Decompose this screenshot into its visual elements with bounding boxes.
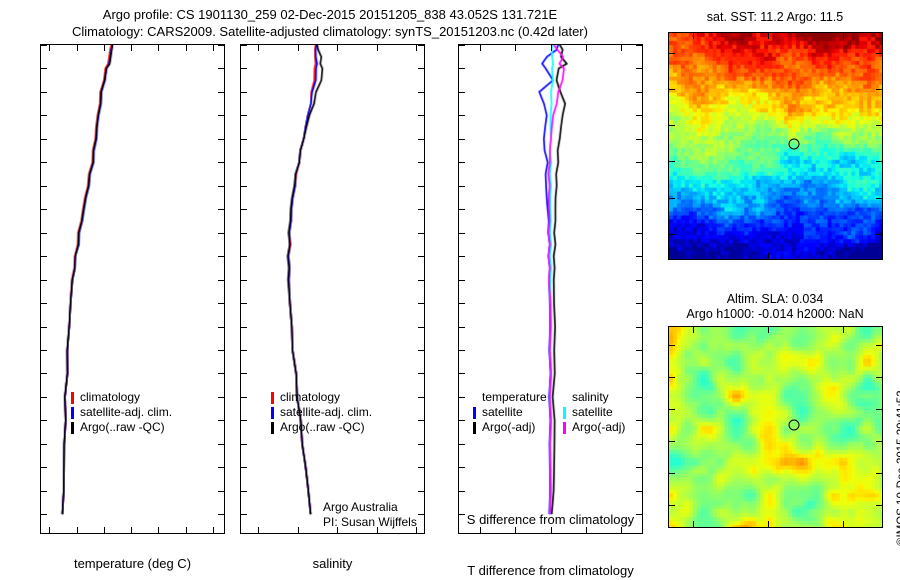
axis-tick [41, 233, 47, 234]
legend-label: satellite-adj. clim. [280, 405, 372, 420]
axis-tick [459, 303, 465, 304]
axis-tick [636, 115, 642, 116]
axis-tick [636, 162, 642, 163]
temperature-legend: climatologysatellite-adj. clim.Argo(..ra… [71, 390, 172, 435]
axis-tick [551, 45, 552, 51]
axis-tick [636, 139, 642, 140]
axis-tick [418, 186, 424, 187]
temperature-axis-label: temperature (deg C) [40, 556, 225, 571]
axis-tick [41, 350, 47, 351]
sla-map-title-line1: Altim. SLA: 0.034 [660, 292, 890, 307]
axis-tick [669, 53, 675, 54]
axis-tick [636, 327, 642, 328]
axis-tick [41, 92, 47, 93]
axis-tick [41, 514, 47, 515]
axis-tick [131, 45, 132, 51]
difference-bottom-axis-label: T difference from climatology [458, 563, 643, 578]
axis-tick [218, 397, 224, 398]
axis-tick [693, 253, 694, 259]
axis-tick [49, 527, 50, 533]
axis-tick [186, 527, 187, 533]
axis-tick [551, 527, 552, 533]
axis-tick [515, 527, 516, 533]
axis-tick [218, 327, 224, 328]
salinity-axis-label: salinity [240, 556, 425, 571]
axis-tick [459, 397, 465, 398]
axis-tick [41, 45, 47, 46]
axis-tick [876, 377, 882, 378]
axis-tick [693, 33, 694, 39]
legend-item: satellite-adj. clim. [271, 405, 372, 420]
axis-tick [241, 45, 247, 46]
axis-tick [218, 209, 224, 210]
axis-tick [241, 233, 247, 234]
axis-tick [843, 327, 844, 333]
axis-tick [459, 68, 465, 69]
axis-tick [218, 92, 224, 93]
axis-tick [241, 280, 247, 281]
axis-tick [41, 397, 47, 398]
axis-tick [876, 53, 882, 54]
axis-tick [459, 45, 465, 46]
axis-tick [416, 45, 417, 51]
axis-tick [418, 420, 424, 421]
axis-tick [158, 527, 159, 533]
axis-tick [459, 162, 465, 163]
axis-tick [418, 68, 424, 69]
axis-tick [876, 198, 882, 199]
axis-tick [459, 327, 465, 328]
axis-tick [669, 441, 675, 442]
axis-tick [459, 209, 465, 210]
axis-tick [669, 377, 675, 378]
axis-tick [418, 139, 424, 140]
legend-color-swatch [71, 407, 74, 419]
axis-tick [418, 303, 424, 304]
legend-title: salinity [563, 390, 625, 405]
axis-tick [636, 209, 642, 210]
axis-tick [636, 303, 642, 304]
axis-tick [418, 45, 424, 46]
axis-tick [418, 397, 424, 398]
legend-color-swatch [473, 422, 476, 434]
page-title: Argo profile: CS 1901130_259 02-Dec-2015… [0, 6, 660, 40]
axis-tick [41, 491, 47, 492]
axis-tick [459, 420, 465, 421]
axis-tick [768, 521, 769, 527]
legend-item: Argo(-adj) [563, 420, 625, 435]
sla-map-axes: -38-40-42-44-46-48125130135 [669, 327, 882, 527]
axis-tick [337, 45, 338, 51]
legend-item: satellite [563, 405, 625, 420]
axis-tick [459, 115, 465, 116]
legend-item: satellite [473, 405, 547, 420]
axis-tick [669, 345, 675, 346]
axis-tick [621, 45, 622, 51]
axis-tick [636, 68, 642, 69]
axis-tick [418, 162, 424, 163]
axis-tick [418, 467, 424, 468]
axis-tick [41, 139, 47, 140]
axis-tick [843, 33, 844, 39]
axis-tick [876, 505, 882, 506]
axis-tick [218, 186, 224, 187]
legend-item: Argo(..raw -QC) [71, 420, 172, 435]
axis-tick [41, 280, 47, 281]
axis-tick [41, 68, 47, 69]
axis-tick [669, 234, 675, 235]
axis-tick [241, 350, 247, 351]
sst-map[interactable]: -38-40-42-44-46-48125130135 [668, 32, 883, 260]
legend-item: Argo(..raw -QC) [271, 420, 372, 435]
axis-tick [636, 45, 642, 46]
legend-label: satellite [572, 405, 613, 420]
axis-tick [459, 280, 465, 281]
axis-tick [586, 45, 587, 51]
sla-map-title-line2: Argo h1000: -0.014 h2000: NaN [650, 307, 900, 322]
axis-tick [218, 467, 224, 468]
axis-tick [669, 409, 675, 410]
legend-item: Argo(-adj) [473, 420, 547, 435]
legend-label: satellite [482, 405, 523, 420]
title-line-1: Argo profile: CS 1901130_259 02-Dec-2015… [0, 6, 660, 23]
axis-tick [241, 467, 247, 468]
axis-tick [41, 467, 47, 468]
axis-tick [258, 527, 259, 533]
legend-color-swatch [563, 422, 566, 434]
axis-tick [768, 327, 769, 333]
axis-tick [218, 68, 224, 69]
axis-tick [693, 521, 694, 527]
axis-tick [241, 92, 247, 93]
axis-tick [218, 162, 224, 163]
axis-tick [459, 444, 465, 445]
axis-tick [669, 125, 675, 126]
axis-tick [241, 373, 247, 374]
temperature-profile-panel[interactable]: 0100200300400500600700800900100011001200… [40, 44, 225, 534]
axis-tick [693, 327, 694, 333]
axis-tick [218, 139, 224, 140]
axis-tick [41, 162, 47, 163]
axis-tick [418, 444, 424, 445]
axis-tick [418, 327, 424, 328]
axis-tick [418, 256, 424, 257]
salinity-legend: climatologysatellite-adj. clim.Argo(..ra… [271, 390, 372, 435]
axis-tick [876, 409, 882, 410]
axis-tick [669, 505, 675, 506]
axis-tick [241, 209, 247, 210]
axis-tick [41, 373, 47, 374]
axis-tick [636, 256, 642, 257]
axis-tick [218, 350, 224, 351]
axis-tick [636, 233, 642, 234]
difference-legend-salinity: salinitysatelliteArgo(-adj) [563, 390, 625, 435]
axis-tick [636, 491, 642, 492]
legend-item: satellite-adj. clim. [71, 405, 172, 420]
axis-tick [241, 491, 247, 492]
axis-tick [241, 514, 247, 515]
axis-tick [876, 89, 882, 90]
legend-color-swatch [71, 422, 74, 434]
axis-tick [41, 444, 47, 445]
axis-tick [218, 373, 224, 374]
axis-tick [636, 444, 642, 445]
axis-tick [459, 350, 465, 351]
axis-tick [515, 45, 516, 51]
axis-tick [459, 139, 465, 140]
axis-tick [768, 253, 769, 259]
axis-tick [218, 256, 224, 257]
axis-tick [669, 89, 675, 90]
axis-tick [241, 68, 247, 69]
sla-map[interactable]: -38-40-42-44-46-48125130135 [668, 326, 883, 528]
axis-tick [636, 467, 642, 468]
attribution-line-1: Argo Australia [323, 500, 417, 515]
axis-tick [418, 115, 424, 116]
axis-tick [636, 397, 642, 398]
axis-tick [418, 373, 424, 374]
axis-tick [241, 420, 247, 421]
axis-tick [621, 527, 622, 533]
legend-label: climatology [80, 390, 140, 405]
difference-legend-temperature: temperaturesatelliteArgo(-adj) [473, 390, 547, 435]
axis-tick [459, 373, 465, 374]
legend-label: climatology [280, 390, 340, 405]
axis-tick [418, 209, 424, 210]
axis-tick [418, 92, 424, 93]
axis-tick [104, 45, 105, 51]
axis-tick [418, 491, 424, 492]
axis-tick [158, 45, 159, 51]
legend-label: Argo(..raw -QC) [80, 420, 165, 435]
axis-tick [459, 92, 465, 93]
difference-axes: -2-1012-0.5-0.2500.250.5 [459, 45, 642, 533]
axis-tick [459, 186, 465, 187]
axis-tick [41, 256, 47, 257]
axis-tick [636, 350, 642, 351]
axis-tick [241, 327, 247, 328]
axis-tick [41, 420, 47, 421]
axis-tick [636, 186, 642, 187]
axis-tick [186, 45, 187, 51]
legend-label: Argo(-adj) [572, 420, 625, 435]
legend-color-swatch [271, 422, 274, 434]
axis-tick [377, 45, 378, 51]
axis-tick [636, 373, 642, 374]
sst-map-title: sat. SST: 11.2 Argo: 11.5 [660, 10, 890, 25]
axis-tick [636, 280, 642, 281]
axis-tick [298, 527, 299, 533]
axis-tick [131, 527, 132, 533]
axis-tick [41, 209, 47, 210]
legend-label: Argo(-adj) [482, 420, 535, 435]
axis-tick [480, 45, 481, 51]
axis-tick [41, 303, 47, 304]
axis-tick [876, 441, 882, 442]
imos-credit: ©IMOS 10-Dec-2015 20:41:52 [896, 390, 900, 546]
legend-color-swatch [271, 407, 274, 419]
salinity-profile-panel[interactable]: 3434.53535.536 climatologysatellite-adj.… [240, 44, 425, 534]
axis-tick [241, 115, 247, 116]
axis-tick [41, 327, 47, 328]
axis-tick [218, 233, 224, 234]
axis-tick [418, 350, 424, 351]
axis-tick [213, 45, 214, 51]
axis-tick [241, 139, 247, 140]
legend-label: Argo(..raw -QC) [280, 420, 365, 435]
axis-tick [218, 303, 224, 304]
legend-item: climatology [71, 390, 172, 405]
temperature-axes: 0100200300400500600700800900100011001200… [41, 45, 224, 533]
axis-tick [218, 514, 224, 515]
axis-tick [218, 444, 224, 445]
axis-tick [241, 444, 247, 445]
axis-tick [218, 115, 224, 116]
axis-tick [876, 345, 882, 346]
legend-color-swatch [271, 392, 274, 404]
axis-tick [636, 420, 642, 421]
axis-tick [77, 45, 78, 51]
axis-tick [218, 420, 224, 421]
axis-tick [876, 125, 882, 126]
axis-tick [241, 397, 247, 398]
axis-tick [843, 253, 844, 259]
axis-tick [218, 491, 224, 492]
axis-tick [418, 233, 424, 234]
axis-tick [459, 233, 465, 234]
axis-tick [49, 45, 50, 51]
axis-tick [586, 527, 587, 533]
axis-tick [213, 527, 214, 533]
axis-tick [418, 514, 424, 515]
legend-color-swatch [563, 407, 566, 419]
axis-tick [669, 198, 675, 199]
axis-tick [41, 115, 47, 116]
attribution-line-2: PI: Susan Wijffels [323, 515, 417, 530]
axis-tick [876, 473, 882, 474]
axis-tick [241, 162, 247, 163]
axis-tick [218, 280, 224, 281]
legend-color-swatch [473, 407, 476, 419]
legend-label: satellite-adj. clim. [80, 405, 172, 420]
axis-tick [104, 527, 105, 533]
attribution-block: Argo Australia PI: Susan Wijffels [323, 500, 417, 530]
legend-item: climatology [271, 390, 372, 405]
axis-tick [459, 467, 465, 468]
axis-tick [876, 161, 882, 162]
axis-tick [876, 234, 882, 235]
axis-tick [669, 161, 675, 162]
axis-tick [298, 45, 299, 51]
axis-tick [459, 491, 465, 492]
axis-tick [41, 186, 47, 187]
axis-tick [418, 280, 424, 281]
axis-tick [843, 521, 844, 527]
axis-tick [241, 256, 247, 257]
axis-tick [669, 473, 675, 474]
axis-tick [768, 33, 769, 39]
axis-tick [218, 45, 224, 46]
axis-tick [459, 256, 465, 257]
axis-tick [480, 527, 481, 533]
salinity-axes: 3434.53535.536 [241, 45, 424, 533]
axis-tick [636, 92, 642, 93]
legend-color-swatch [71, 392, 74, 404]
axis-tick [241, 186, 247, 187]
title-line-2: Climatology: CARS2009. Satellite-adjuste… [0, 23, 660, 40]
sst-map-axes: -38-40-42-44-46-48125130135 [669, 33, 882, 259]
axis-tick [77, 527, 78, 533]
legend-title: temperature [473, 390, 547, 405]
difference-profile-panel[interactable]: -2-1012-0.5-0.2500.250.5 temperaturesate… [458, 44, 643, 534]
axis-tick [241, 303, 247, 304]
difference-top-axis-label: S difference from climatology [458, 512, 643, 527]
axis-tick [258, 45, 259, 51]
